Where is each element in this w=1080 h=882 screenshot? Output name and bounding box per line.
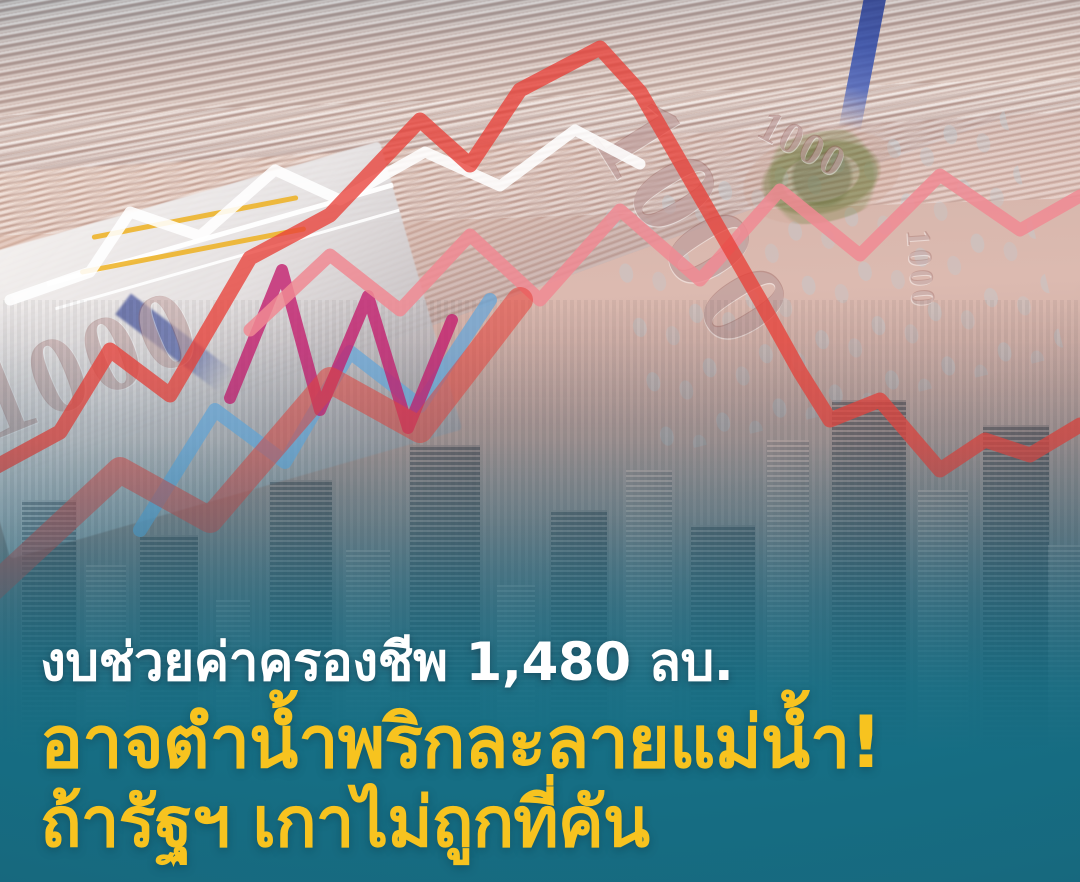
headline-line-2: อาจตำน้ำพริกละลายแม่น้ำ! <box>40 706 1040 779</box>
poster-canvas: 1000 1000 1000 1000 <box>0 0 1080 882</box>
headline-line-3: ถ้ารัฐฯ เกาไม่ถูกที่คัน <box>40 788 1040 858</box>
headline-line-1: งบช่วยค่าครองชีพ 1,480 ลบ. <box>40 636 1040 690</box>
headline-block: งบช่วยค่าครองชีพ 1,480 ลบ. อาจตำน้ำพริกล… <box>0 636 1080 858</box>
